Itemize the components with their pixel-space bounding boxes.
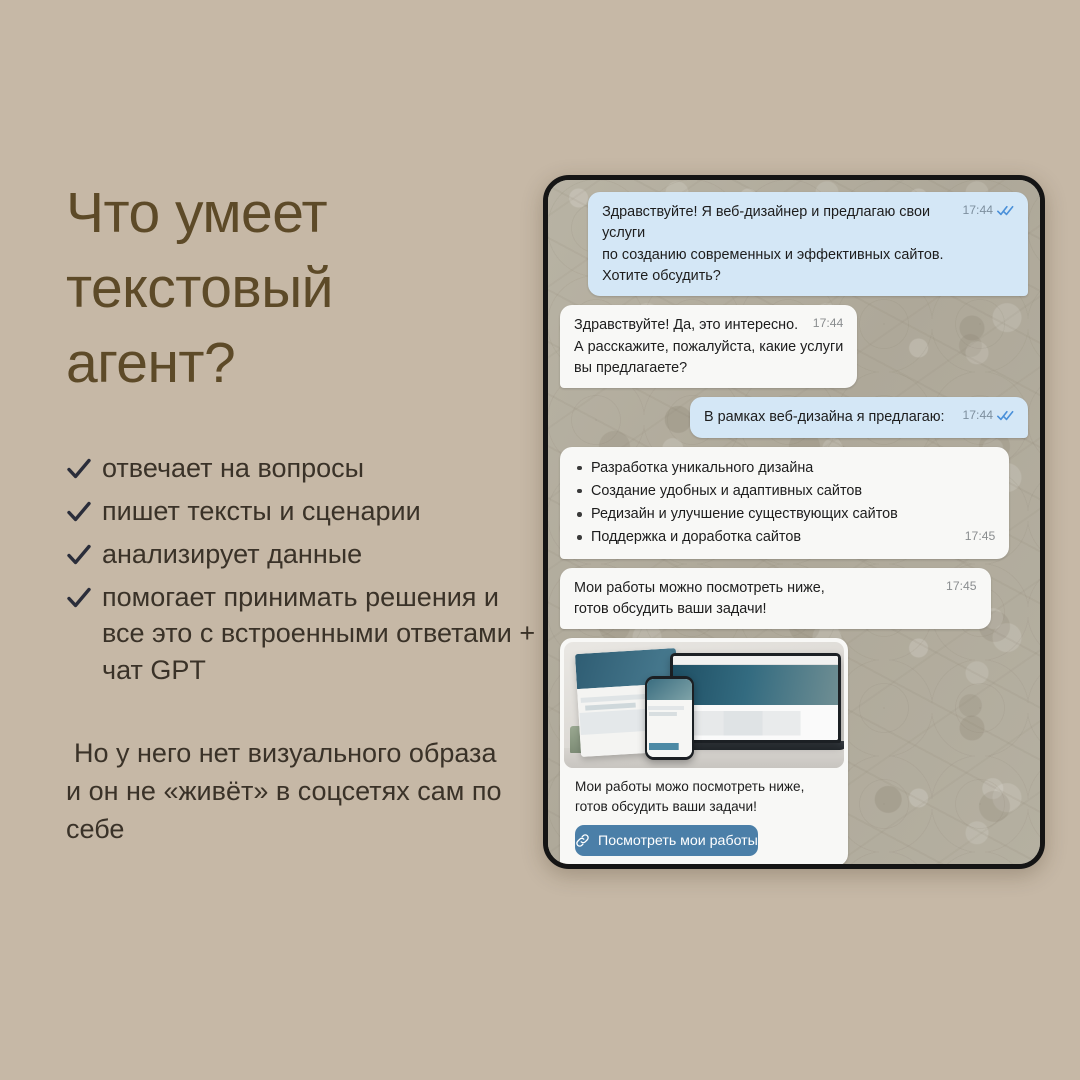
- message-time: 17:44: [963, 409, 994, 421]
- message-row: 17:44 Здравствуйте! Я веб-дизайнер и пре…: [560, 192, 1028, 296]
- message-time: 17:44: [813, 317, 844, 329]
- feature-list: отвечает на вопросы пишет тексты и сцена…: [66, 450, 536, 688]
- message-text: В рамках веб-дизайна я предлагаю:: [704, 409, 949, 425]
- message-time: 17:45: [946, 580, 977, 592]
- chat-bubble-incoming[interactable]: 17:45 Мои работы можно посмотреть ниже, …: [560, 568, 991, 630]
- page-title: Что умеет текстовый агент?: [66, 176, 536, 402]
- check-icon: [66, 497, 92, 527]
- double-check-icon: [997, 410, 1014, 421]
- left-content-column: Что умеет текстовый агент? отвечает на в…: [66, 176, 536, 849]
- button-label: Посмотреть мои работы: [598, 833, 758, 849]
- view-my-works-button[interactable]: Посмотреть мои работы: [575, 825, 758, 856]
- feature-item: помогает принимать решения и все это с в…: [66, 579, 536, 688]
- feature-item: пишет тексты и сценарии: [66, 493, 536, 529]
- message-row: Мои работы можо посмотреть ниже, готов о…: [560, 638, 1028, 866]
- message-row: Разработка уникального дизайна Создание …: [560, 447, 1028, 559]
- feature-item: анализирует данные: [66, 536, 536, 572]
- message-text: Здравствуйте! Да, это интересно. А расск…: [574, 317, 843, 376]
- list-item: Разработка уникального дизайна: [574, 457, 995, 480]
- check-icon: [66, 583, 92, 613]
- chat-bubble-outgoing[interactable]: 17:44 В рамках веб-дизайна я предлагаю:: [690, 397, 1028, 437]
- feature-label: отвечает на вопросы: [102, 450, 364, 486]
- laptop-device: [670, 653, 841, 744]
- feature-label: пишет тексты и сценарии: [102, 493, 421, 529]
- message-meta: 17:44: [963, 409, 1015, 421]
- message-meta: 17:44: [813, 317, 844, 329]
- message-row: 17:44 Здравствуйте! Да, это интересно. А…: [560, 305, 1028, 388]
- chat-bubble-media-card[interactable]: Мои работы можо посмотреть ниже, готов о…: [560, 638, 848, 866]
- check-icon: [66, 540, 92, 570]
- feature-item: отвечает на вопросы: [66, 450, 536, 486]
- message-row: 17:44 В рамках веб-дизайна я предлагаю:: [560, 397, 1028, 437]
- message-time: 17:44: [963, 204, 994, 216]
- chat-bubble-incoming-list[interactable]: Разработка уникального дизайна Создание …: [560, 447, 1009, 559]
- message-meta: 17:44: [963, 204, 1015, 216]
- feature-label: анализирует данные: [102, 536, 362, 572]
- chat-bubble-outgoing[interactable]: 17:44 Здравствуйте! Я веб-дизайнер и пре…: [588, 192, 1028, 296]
- double-check-icon: [997, 205, 1014, 216]
- check-icon: [66, 454, 92, 484]
- device-mockup-photo: [564, 642, 844, 768]
- card-caption: Мои работы можо посмотреть ниже, готов о…: [564, 768, 844, 816]
- list-item: Создание удобных и адаптивных сайтов: [574, 480, 995, 503]
- link-icon: [575, 833, 590, 848]
- phone-mockup: 17:44 Здравствуйте! Я веб-дизайнер и пре…: [543, 175, 1045, 869]
- list-item: Поддержка и доработка сайтов: [574, 526, 995, 549]
- services-bullet-list: Разработка уникального дизайна Создание …: [574, 457, 995, 550]
- message-text: Мои работы можно посмотреть ниже, готов …: [574, 580, 825, 617]
- phone-device: [645, 676, 694, 759]
- message-meta: 17:45: [946, 580, 977, 592]
- chat-bubble-incoming[interactable]: 17:44 Здравствуйте! Да, это интересно. А…: [560, 305, 857, 388]
- message-text: Здравствуйте! Я веб-дизайнер и предлагаю…: [602, 204, 943, 284]
- closing-note: Но у него нет визуального образа и он не…: [66, 734, 536, 849]
- message-row: 17:45 Мои работы можно посмотреть ниже, …: [560, 568, 1028, 630]
- feature-label: помогает принимать решения и все это с в…: [102, 579, 536, 688]
- list-item: Редизайн и улучшение существующих сайтов: [574, 503, 995, 526]
- chat-message-list[interactable]: 17:44 Здравствуйте! Я веб-дизайнер и пре…: [548, 180, 1040, 864]
